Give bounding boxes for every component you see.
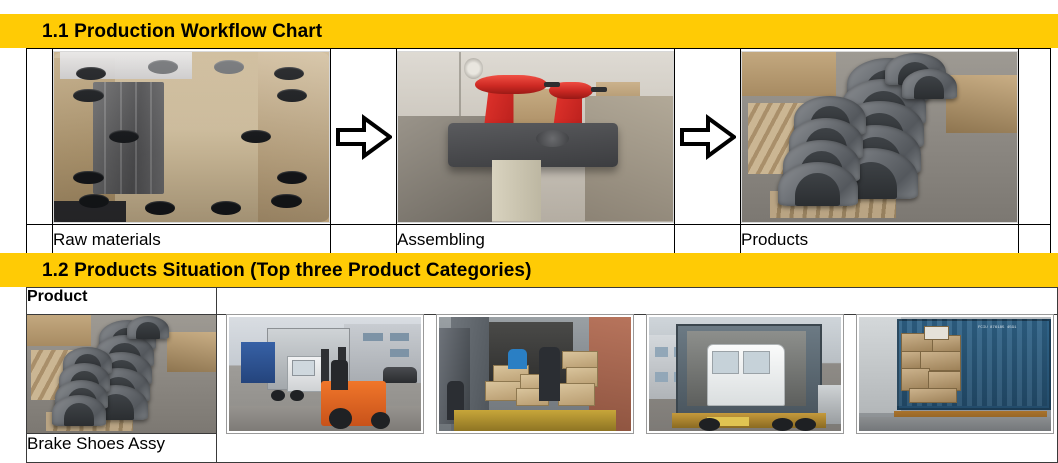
brake-shoes-assy-label: Brake Shoes Assy bbox=[27, 434, 217, 463]
workflow-image-row bbox=[27, 49, 1051, 225]
caption-spacer-left bbox=[27, 225, 53, 256]
gallery-column-header bbox=[217, 288, 1058, 315]
truck-cab-in-container-photo bbox=[647, 315, 843, 433]
caption-spacer-2 bbox=[675, 225, 741, 256]
workflow-connector-cell-1 bbox=[331, 49, 397, 225]
products-image-cell bbox=[741, 49, 1019, 225]
assembling-riveting-machine-photo bbox=[397, 51, 674, 223]
products-situation-header-row: Product bbox=[27, 288, 1058, 315]
caption-spacer-right bbox=[1019, 225, 1051, 256]
shipping-gallery-cell: FCIU 876185 45G1 bbox=[217, 315, 1058, 463]
assembling-image-cell bbox=[397, 49, 675, 225]
workflow-caption-row: Raw materials Assembling Products bbox=[27, 225, 1051, 256]
right-spacer-cell bbox=[1019, 49, 1051, 225]
document-page: 1.1 Production Workflow Chart bbox=[0, 0, 1058, 461]
production-workflow-table: Raw materials Assembling Products bbox=[26, 48, 1051, 256]
products-situation-table: Product bbox=[26, 287, 1058, 463]
brake-shoes-assy-thumbnail bbox=[27, 315, 216, 433]
section-banner-1-2: 1.2 Products Situation (Top three Produc… bbox=[0, 253, 1058, 287]
products-situation-body-row: FCIU 876185 45G1 bbox=[27, 315, 1058, 434]
section-banner-1-1: 1.1 Production Workflow Chart bbox=[0, 14, 1058, 48]
blue-container-cartons-photo: FCIU 876185 45G1 bbox=[857, 315, 1053, 433]
right-arrow-icon bbox=[336, 114, 392, 160]
assembling-caption: Assembling bbox=[397, 225, 675, 256]
forklift-loading-truck-photo bbox=[227, 315, 423, 433]
left-spacer-cell bbox=[27, 49, 53, 225]
raw-material-image-cell bbox=[53, 49, 331, 225]
shipping-gallery: FCIU 876185 45G1 bbox=[217, 315, 1057, 433]
caption-spacer-1 bbox=[331, 225, 397, 256]
right-arrow-icon bbox=[680, 114, 736, 160]
product-thumbnail-cell bbox=[27, 315, 217, 434]
container-marking-label: FCIU 876185 45G1 bbox=[978, 326, 1016, 331]
product-column-header: Product bbox=[27, 288, 217, 315]
products-caption: Products bbox=[741, 225, 1019, 256]
section-banner-1-1-label: 1.1 Production Workflow Chart bbox=[0, 22, 322, 41]
raw-material-brake-lining-photo bbox=[53, 51, 330, 223]
workers-loading-cartons-photo bbox=[437, 315, 633, 433]
section-banner-1-2-label: 1.2 Products Situation (Top three Produc… bbox=[0, 261, 532, 280]
finished-brake-shoes-photo bbox=[741, 51, 1018, 223]
raw-material-caption: Raw materials bbox=[53, 225, 331, 256]
workflow-connector-cell-2 bbox=[675, 49, 741, 225]
